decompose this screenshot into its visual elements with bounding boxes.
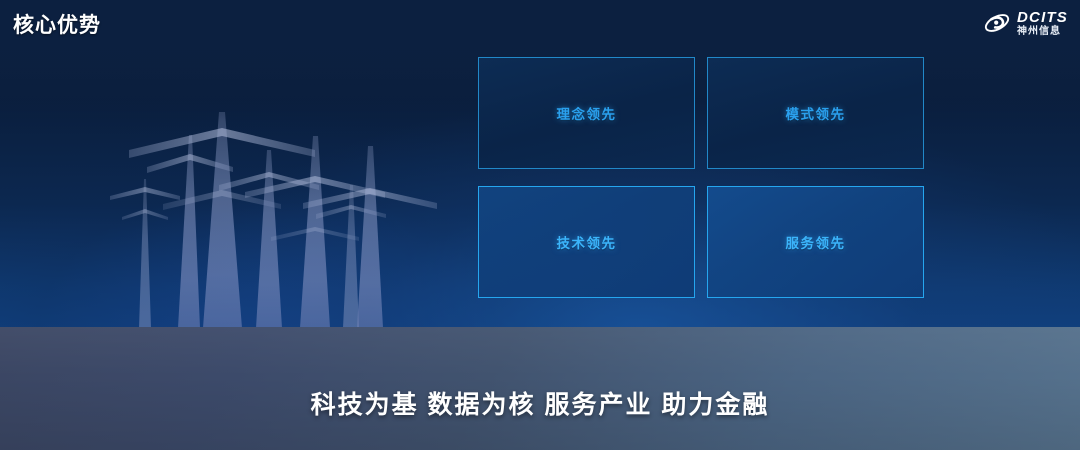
page-title: 核心优势 [13,9,101,39]
advantage-card-label: 技术领先 [557,232,617,252]
logo-name-en: DCITS [1017,10,1068,25]
advantage-card-label: 理念领先 [557,103,617,123]
logo-name-cn: 神州信息 [1017,27,1068,37]
advantage-card-label: 服务领先 [786,232,846,252]
footer-slogan: 科技为基 数据为核 服务产业 助力金融 [0,385,1080,421]
brand-logo: DCITS 神州信息 [983,7,1068,39]
slide-canvas: 核心优势 DCITS 神州信息 理念领先 模式领先 [0,0,1080,450]
logo-wordmark: DCITS 神州信息 [1017,10,1068,37]
galaxy-swirl-icon [983,10,1011,36]
advantage-card-model[interactable]: 模式领先 [707,57,924,169]
advantage-card-concept[interactable]: 理念领先 [478,57,695,169]
header-bar: 核心优势 DCITS 神州信息 [0,0,1080,47]
advantage-card-grid: 理念领先 模式领先 技术领先 服务领先 [478,57,924,298]
advantage-card-service[interactable]: 服务领先 [707,186,924,298]
advantage-card-label: 模式领先 [786,103,846,123]
advantage-card-technology[interactable]: 技术领先 [478,186,695,298]
